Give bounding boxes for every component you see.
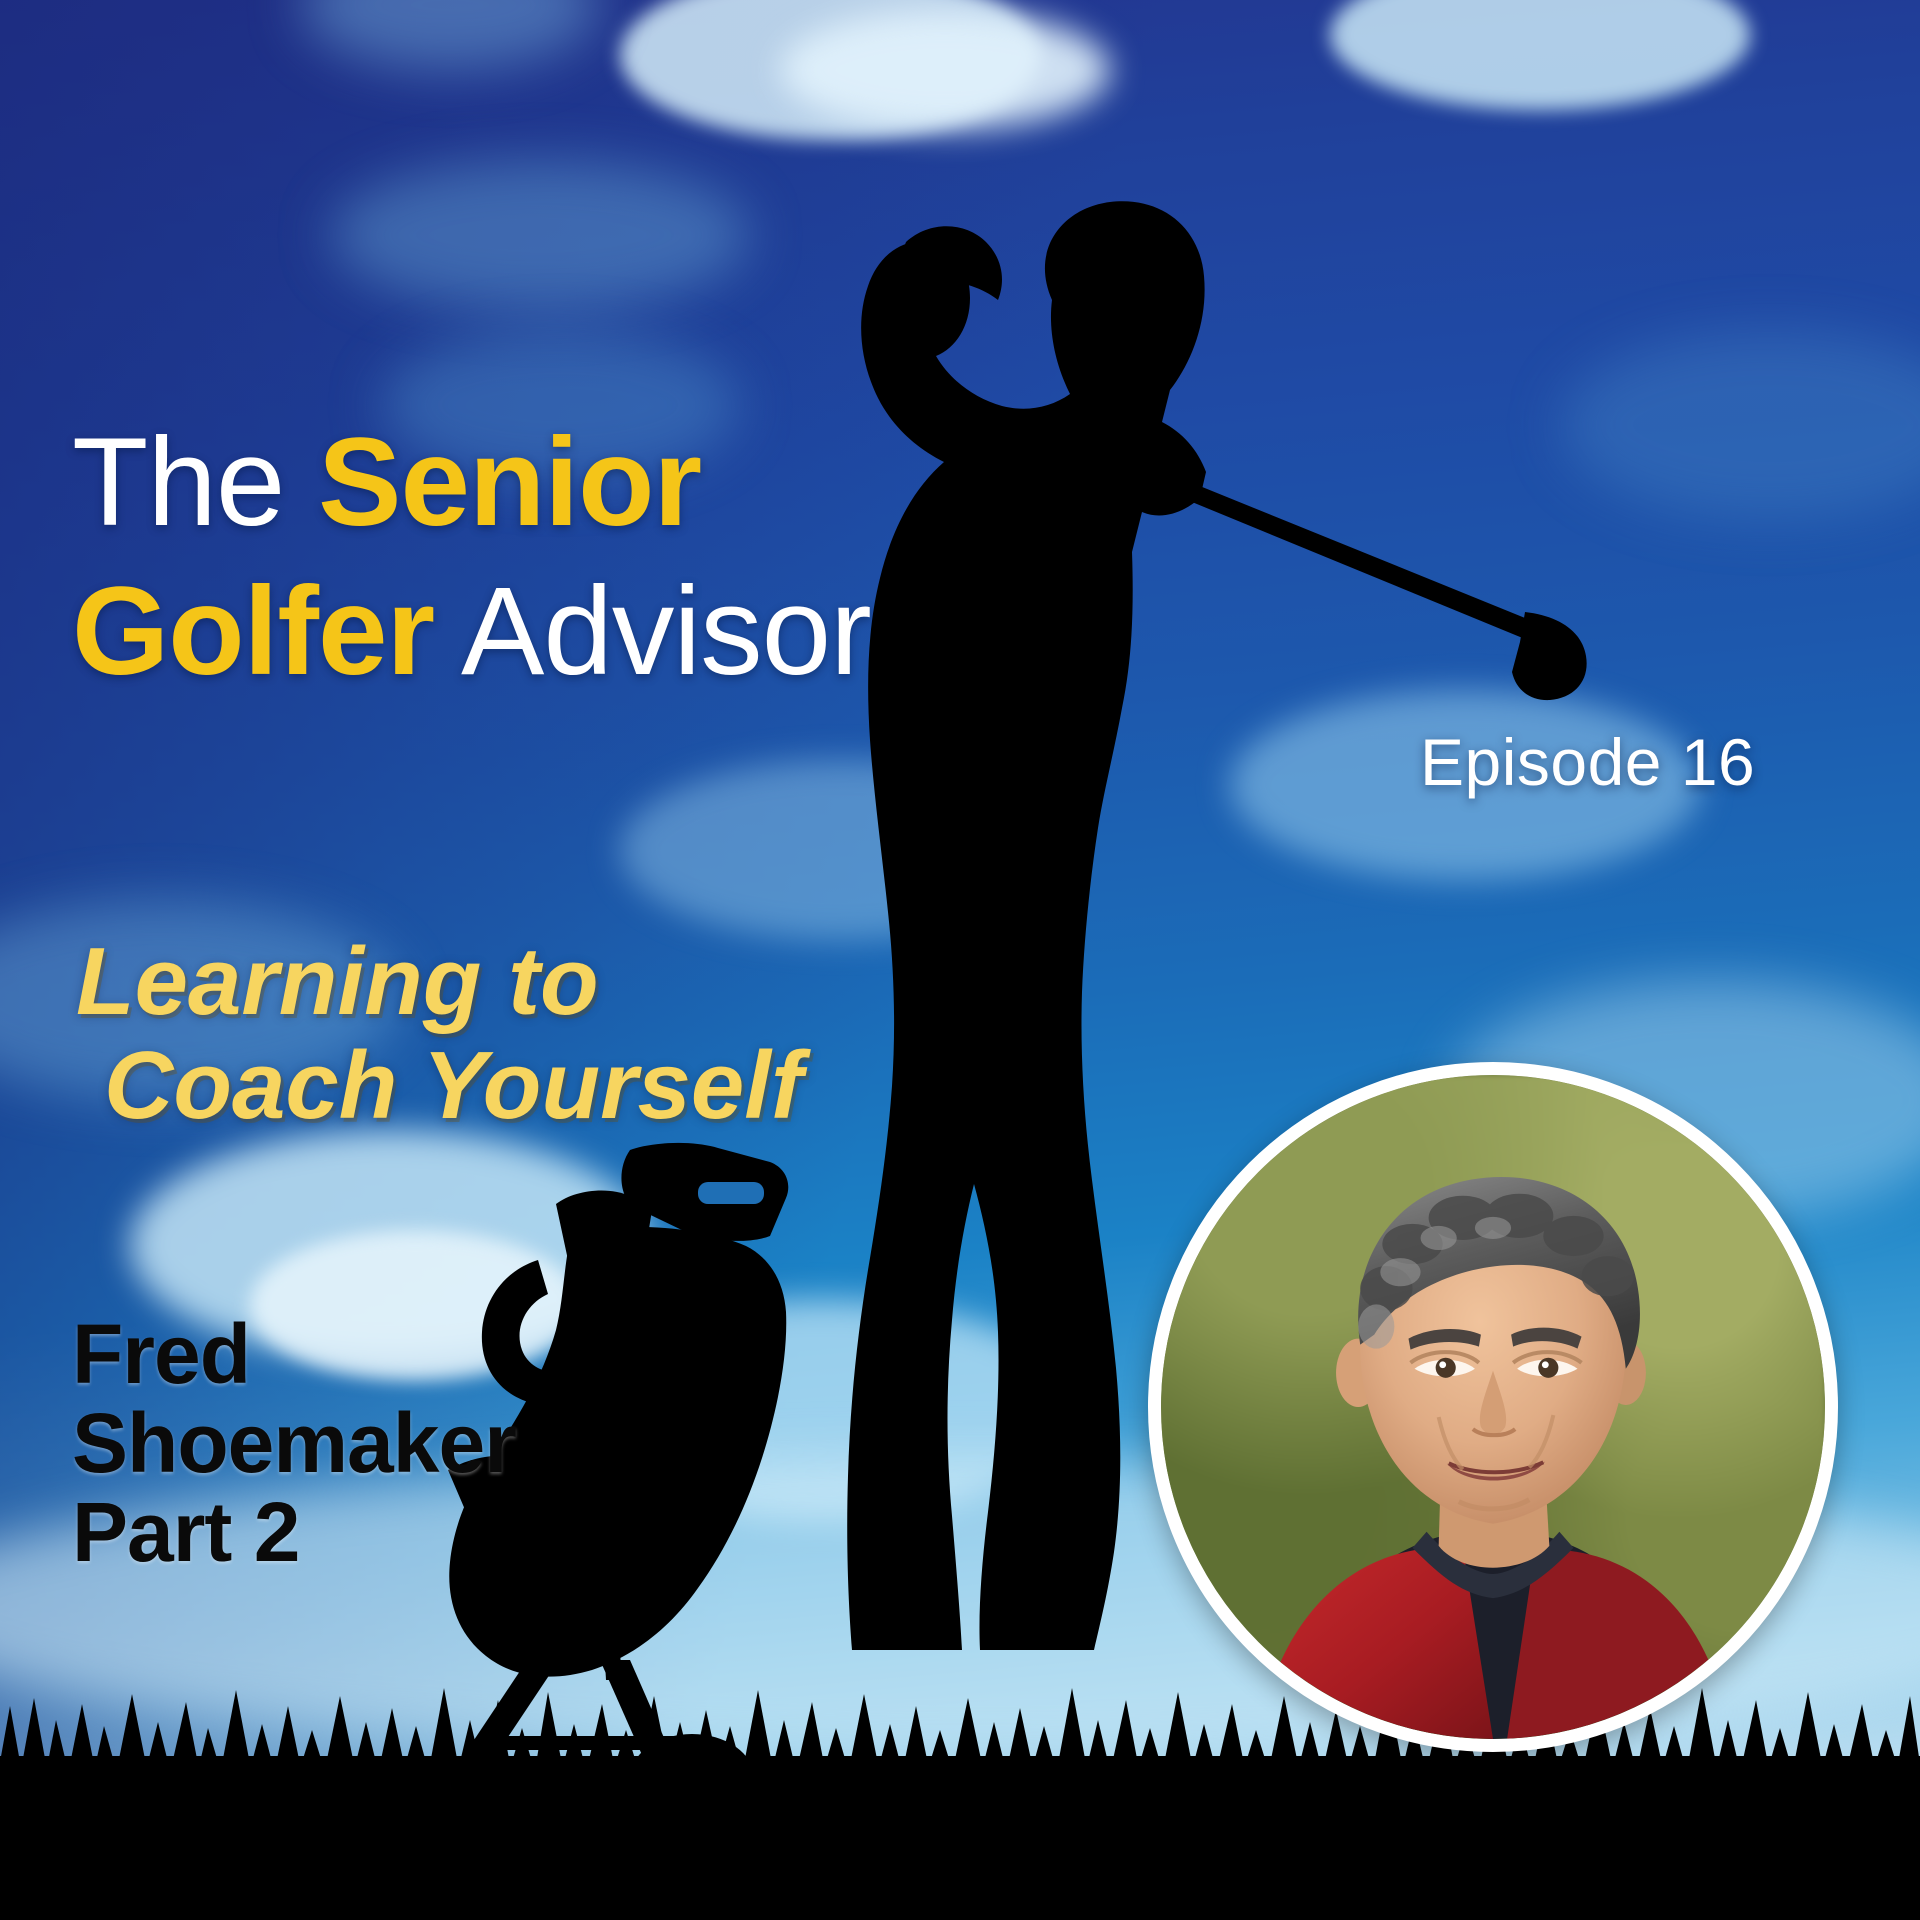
title-word-the: The [72, 413, 318, 552]
show-title: The Senior Golfer Advisor [72, 420, 1092, 694]
title-word-advisor: Advisor [434, 562, 871, 701]
portrait-figure [1161, 1075, 1825, 1739]
guest-last-name: Shoemaker [72, 1399, 692, 1488]
episode-subtitle-line-2: Coach Yourself [76, 1034, 1096, 1138]
ground-silhouette [0, 1792, 1920, 1920]
cloud-upper-mid-left [330, 160, 750, 310]
title-word-senior: Senior [318, 413, 701, 552]
guest-part-label: Part 2 [72, 1488, 692, 1577]
guest-name: Fred Shoemaker Part 2 [72, 1310, 692, 1577]
show-title-line-1: The Senior [72, 420, 1092, 545]
cloud-top-center-2 [780, 10, 1110, 130]
guest-portrait [1148, 1062, 1838, 1752]
guest-first-name: Fred [72, 1310, 692, 1399]
show-title-line-2: Golfer Advisor [72, 569, 1092, 694]
episode-subtitle: Learning to Coach Yourself [76, 930, 1096, 1137]
podcast-cover-art: The Senior Golfer Advisor Episode 16 Lea… [0, 0, 1920, 1920]
title-word-golfer: Golfer [72, 562, 434, 701]
episode-label: Episode 16 [1420, 724, 1755, 800]
episode-subtitle-line-1: Learning to [76, 928, 599, 1035]
